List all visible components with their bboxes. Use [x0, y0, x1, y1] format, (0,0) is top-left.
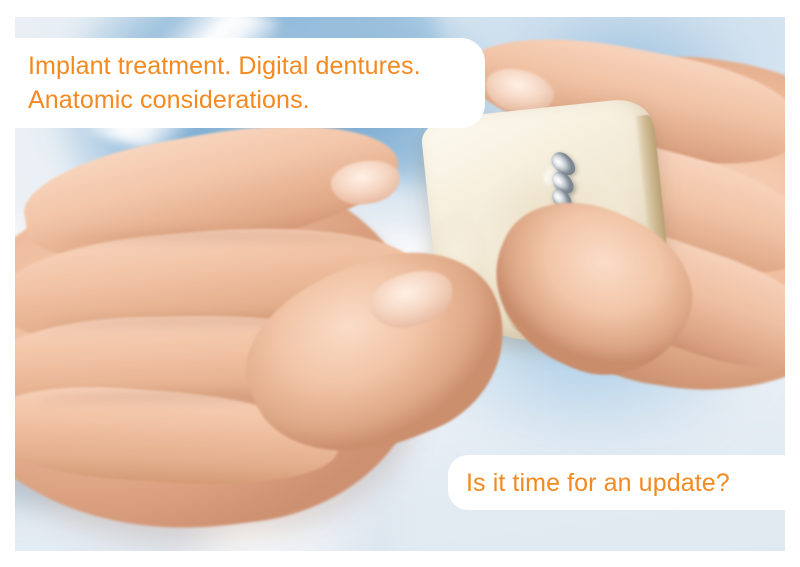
headline-line-1: Implant treatment. Digital dentures.	[28, 49, 485, 83]
left-hand-knuckle-crease	[61, 231, 384, 252]
call-to-action-text: Is it time for an update?	[466, 468, 785, 498]
headline-banner: Implant treatment. Digital dentures. Ana…	[0, 38, 485, 128]
headline-line-2: Anatomic considerations.	[28, 83, 485, 117]
call-to-action-banner: Is it time for an update?	[448, 455, 785, 510]
promo-canvas: Implant treatment. Digital dentures. Ana…	[0, 0, 800, 567]
